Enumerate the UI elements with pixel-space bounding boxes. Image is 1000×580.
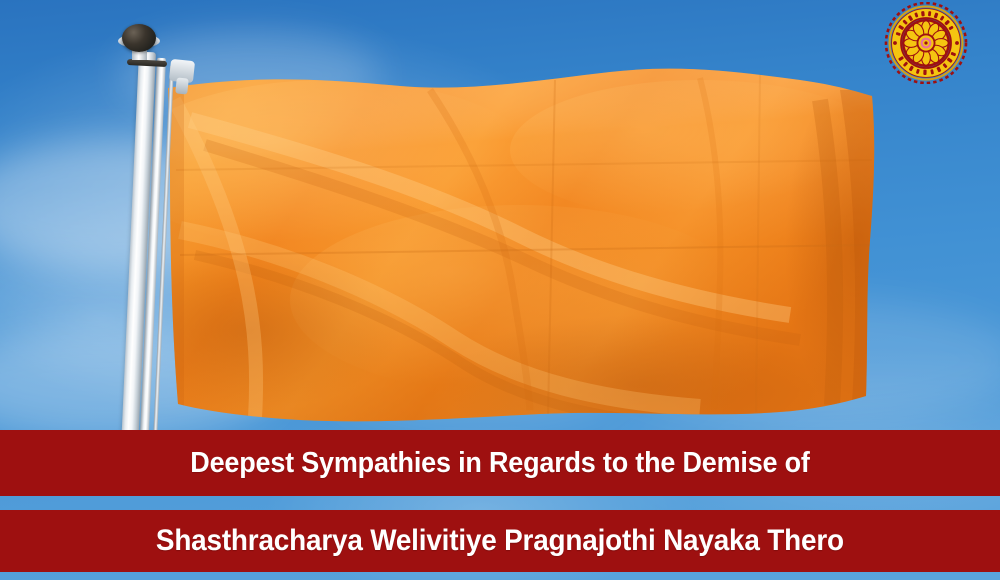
flag-clip-lower xyxy=(175,77,189,94)
orange-flag xyxy=(0,0,1000,440)
memorial-banner-line-2: Shasthracharya Welivitiye Pragnajothi Na… xyxy=(0,510,1000,572)
emblem-icon xyxy=(876,2,976,84)
flagpole-finial-ball xyxy=(122,24,156,52)
memorial-banner-line-1: Deepest Sympathies in Regards to the Dem… xyxy=(0,430,1000,496)
banner-line-2-text: Shasthracharya Welivitiye Pragnajothi Na… xyxy=(156,524,844,558)
banner-line-1-text: Deepest Sympathies in Regards to the Dem… xyxy=(190,447,809,480)
memorial-banner-image: Deepest Sympathies in Regards to the Dem… xyxy=(0,0,1000,580)
university-emblem-logo xyxy=(876,2,976,84)
